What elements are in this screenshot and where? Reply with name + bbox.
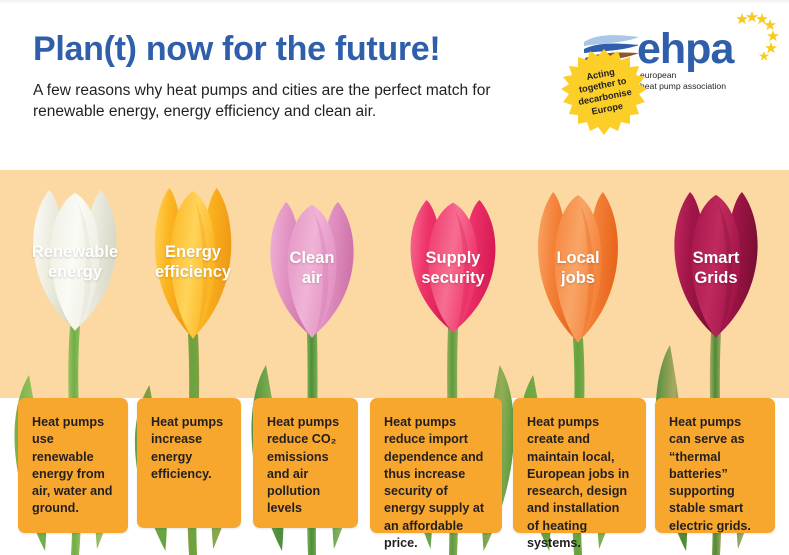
decarbonise-badge: Acting together to decarbonise Europe (560, 48, 648, 136)
logo-wordmark: ehpa (637, 28, 733, 71)
eu-stars-icon (730, 11, 780, 76)
fact-card-5[interactable]: Heat pumps create and maintain local, Eu… (513, 398, 646, 533)
page-title: Plan(t) now for the future! (33, 30, 440, 69)
fact-card-text: Heat pumps increase energy efficiency. (151, 414, 227, 483)
fact-card-row: Heat pumps use renewable energy from air… (0, 398, 789, 533)
fact-card-text: Heat pumps create and maintain local, Eu… (527, 414, 632, 552)
fact-card-2[interactable]: Heat pumps increase energy efficiency. (137, 398, 241, 528)
fact-card-6[interactable]: Heat pumps can serve as “thermal batteri… (655, 398, 775, 533)
fact-card-text: Heat pumps can serve as “thermal batteri… (669, 414, 761, 535)
fact-card-4[interactable]: Heat pumps reduce import dependence and … (370, 398, 502, 533)
fact-card-text: Heat pumps reduce CO₂ emissions and air … (267, 414, 344, 518)
badge-text: Acting together to decarbonise Europe (563, 62, 644, 122)
header-top-divider (0, 0, 789, 3)
fact-card-3[interactable]: Heat pumps reduce CO₂ emissions and air … (253, 398, 358, 528)
fact-card-text: Heat pumps reduce import dependence and … (384, 414, 488, 552)
page-subtitle: A few reasons why heat pumps and cities … (33, 80, 503, 122)
fact-card-text: Heat pumps use renewable energy from air… (32, 414, 114, 518)
header-banner: Plan(t) now for the future! A few reason… (0, 0, 789, 170)
fact-card-1[interactable]: Heat pumps use renewable energy from air… (18, 398, 128, 533)
logo-tagline: european heat pump association (640, 70, 726, 91)
badge-text-wrap: Acting together to decarbonise Europe (552, 40, 655, 143)
ehpa-logo[interactable]: ehpa european heat pump association Acti… (556, 8, 781, 128)
